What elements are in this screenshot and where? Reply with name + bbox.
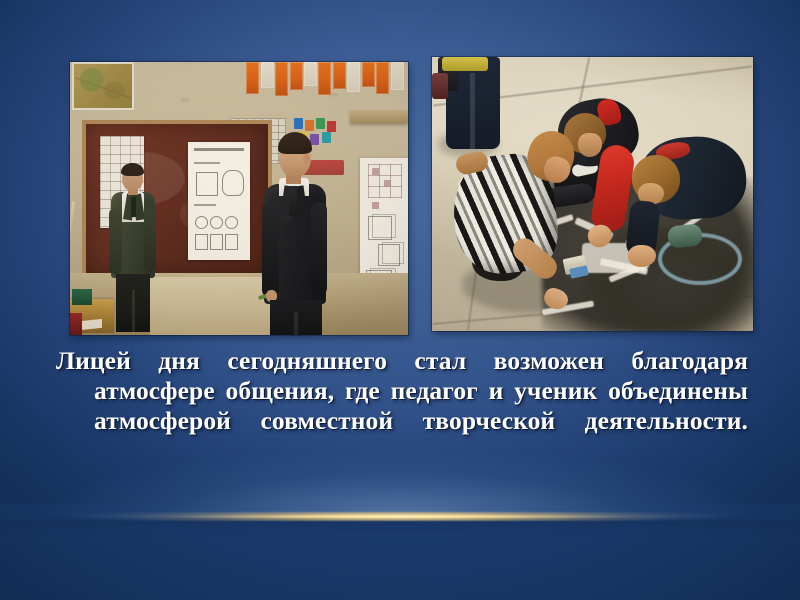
slide-caption: Лицей дня сегодняшнего стал возможен бла… (56, 346, 748, 466)
glow-core (0, 515, 800, 518)
photo-classroom-presentation[interactable] (70, 62, 408, 335)
glow-line (0, 512, 800, 521)
photo-children-chalk-drawing[interactable] (432, 57, 753, 331)
slide-caption-text: Лицей дня сегодняшнего стал возможен бла… (56, 346, 748, 466)
photo-classroom-content (70, 62, 408, 335)
presentation-slide: Лицей дня сегодняшнего стал возможен бла… (0, 0, 800, 600)
photo-color-grade (70, 62, 408, 335)
photo-chalk-content (432, 57, 753, 331)
glow-shadow (0, 520, 800, 534)
photo-color-grade (432, 57, 753, 331)
